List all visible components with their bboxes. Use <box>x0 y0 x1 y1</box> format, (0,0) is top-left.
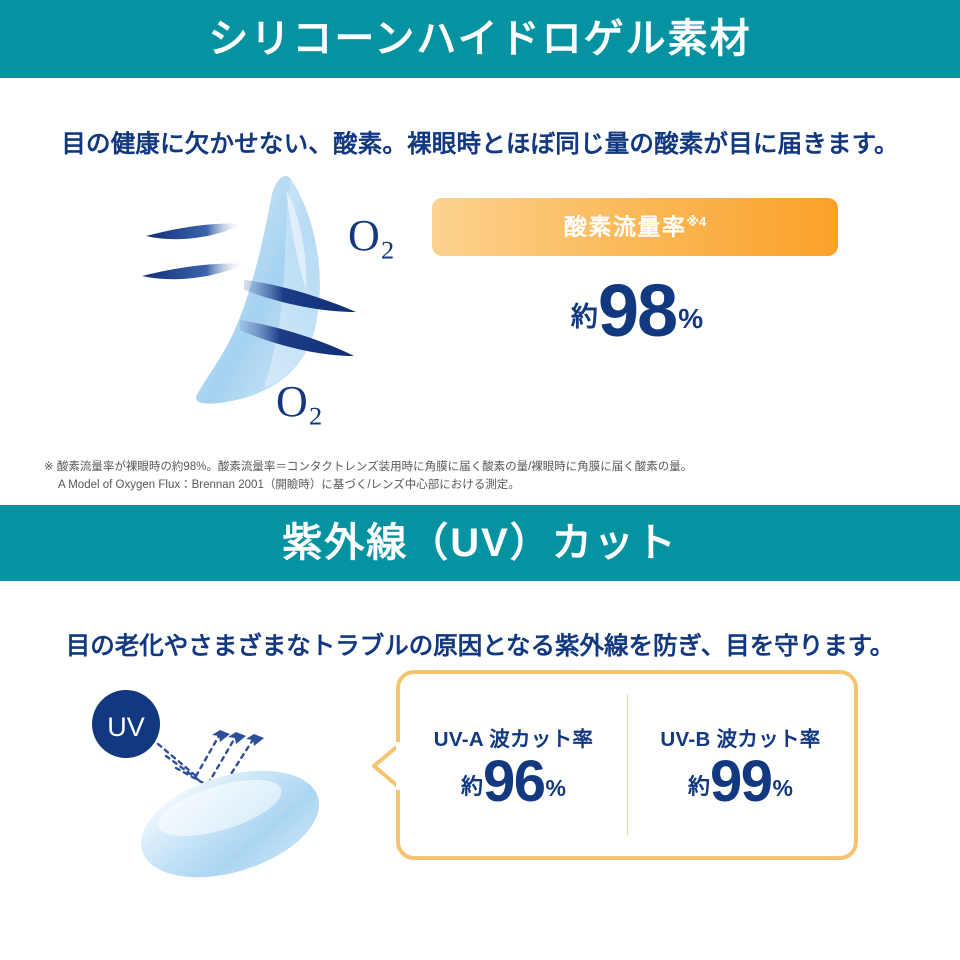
uv-b-stat-column: UV-B 波カット率 約 99 % <box>627 674 854 856</box>
banner-silicone-hydrogel: シリコーンハイドロゲル素材 <box>0 0 960 78</box>
oxygen-footnote-line-1: ※ 酸素流量率が裸眼時の約98%。酸素流量率＝コンタクトレンズ装用時に角膜に届く… <box>44 461 692 473</box>
uv-source-label: UV <box>107 712 145 742</box>
oxygen-stat-value: 98 <box>598 278 676 343</box>
lens-oxygen-svg: O₂ O₂ <box>140 168 440 438</box>
uv-ray-arrowheads <box>212 730 264 746</box>
lens-oxygen-illustration: O₂ O₂ <box>140 168 440 438</box>
uv-lens-illustration: UV <box>70 672 380 887</box>
badge-footnote-marker: ※4 <box>686 214 706 229</box>
oxygen-stat-panel: 酸素流量率※4 約 98 % <box>432 198 842 343</box>
uv-lead-text: 目の老化やさまざまなトラブルの原因となる紫外線を防ぎ、目を守ります。 <box>0 581 960 662</box>
section-oxygen: 目の健康に欠かせない、酸素。裸眼時とほぼ同じ量の酸素が目に届きます。 <box>0 78 960 505</box>
uv-lens-dome <box>128 751 332 887</box>
banner-uv-cut: 紫外線（UV）カット <box>0 505 960 581</box>
uv-b-approx: 約 <box>688 769 710 808</box>
uv-cut-rate-box: UV-A 波カット率 約 96 % UV-B 波カット率 約 99 % <box>396 670 858 860</box>
uv-box-pointer <box>370 742 400 790</box>
o2-label-top: O₂ <box>348 211 395 260</box>
o2-label-bottom: O₂ <box>276 377 323 426</box>
oxygen-lead-text: 目の健康に欠かせない、酸素。裸眼時とほぼ同じ量の酸素が目に届きます。 <box>0 78 960 160</box>
oxygen-flow-rate-badge: 酸素流量率※4 <box>432 198 838 256</box>
oxygen-stat-approx: 約 <box>571 295 598 343</box>
section-uv: 目の老化やさまざまなトラブルの原因となる紫外線を防ぎ、目を守ります。 UV <box>0 581 960 960</box>
oxygen-footnote: ※ 酸素流量率が裸眼時の約98%。酸素流量率＝コンタクトレンズ装用時に角膜に届く… <box>44 458 924 495</box>
banner-title-uv-cut: 紫外線（UV）カット <box>282 523 678 563</box>
uv-a-value: 96 <box>483 756 545 808</box>
uv-b-unit: % <box>772 775 793 808</box>
uv-source-badge: UV <box>92 690 160 758</box>
uv-a-stat: 約 96 % <box>461 756 566 808</box>
oxygen-stat-unit: % <box>676 303 703 343</box>
uv-a-label: UV-A 波カット率 <box>434 722 593 752</box>
oxygen-percentage-stat: 約 98 % <box>432 278 842 343</box>
oxygen-body: O₂ O₂ 酸素流量率※4 約 98 % <box>0 160 960 460</box>
uv-body: UV <box>0 662 960 922</box>
uv-a-unit: % <box>545 775 566 808</box>
uv-b-label: UV-B 波カット率 <box>660 722 820 752</box>
uv-b-stat: 約 99 % <box>688 756 793 808</box>
uv-lens-svg: UV <box>70 672 380 887</box>
oxygen-flow-rate-badge-label: 酸素流量率※4 <box>564 215 706 239</box>
oxygen-footnote-line-2: A Model of Oxygen Flux：Brennan 2001（開瞼時）… <box>44 476 924 495</box>
uv-b-value: 99 <box>710 756 772 808</box>
badge-label-text: 酸素流量率 <box>564 214 687 240</box>
banner-title-silicone-hydrogel: シリコーンハイドロゲル素材 <box>208 19 751 59</box>
uv-a-stat-column: UV-A 波カット率 約 96 % <box>400 674 627 856</box>
uv-a-approx: 約 <box>461 769 483 808</box>
